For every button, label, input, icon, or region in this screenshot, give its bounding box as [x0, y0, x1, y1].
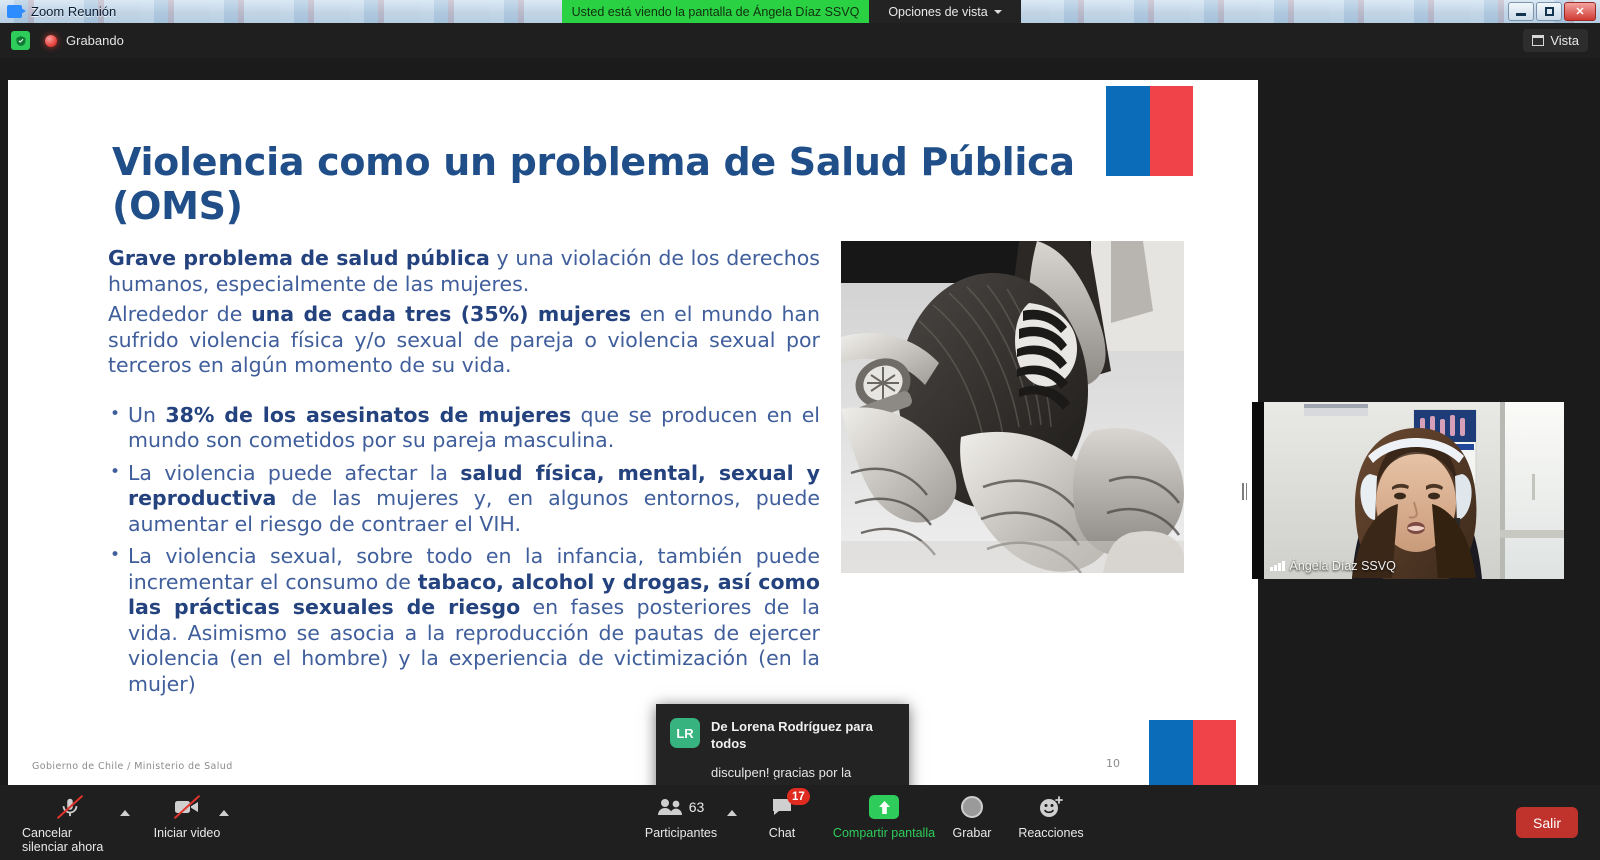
- window-title: Zoom Reunión: [31, 4, 116, 19]
- video-participant-name: Ángela Díaz SSVQ: [1264, 557, 1402, 575]
- meeting-toolbar: Cancelar silenciar ahora Iniciar video 6…: [0, 785, 1600, 860]
- microphone-muted-icon: [59, 794, 81, 820]
- grid-view-icon: [1532, 35, 1544, 46]
- maximize-button[interactable]: [1536, 2, 1562, 21]
- view-options-label: Opciones de vista: [888, 5, 987, 19]
- os-title-bar: Zoom Reunión Usted está viendo la pantal…: [0, 0, 1600, 23]
- chile-flag-logo-bottom: [1149, 720, 1236, 790]
- participants-label: Participantes: [645, 826, 717, 840]
- slide-bullet-item: Un 38% de los asesinatos de mujeres que …: [108, 403, 820, 454]
- smiley-plus-icon: [1039, 794, 1063, 820]
- encryption-shield-icon[interactable]: [11, 31, 30, 50]
- recording-label: Grabando: [66, 33, 124, 48]
- start-video-button[interactable]: Iniciar video: [139, 794, 235, 840]
- slide-body-text: Grave problema de salud pública y una vi…: [108, 246, 820, 704]
- record-label: Grabar: [953, 826, 992, 840]
- share-screen-label: Compartir pantalla: [833, 826, 935, 840]
- video-options-caret-icon[interactable]: [219, 810, 229, 816]
- chat-button[interactable]: 17 Chat: [734, 794, 830, 840]
- recording-indicator-icon: [45, 35, 57, 47]
- slide-bullet-item: La violencia sexual, sobre todo en la in…: [108, 544, 820, 697]
- view-options-dropdown[interactable]: Opciones de vista: [869, 0, 1021, 23]
- reactions-button[interactable]: Reacciones: [1003, 794, 1099, 840]
- share-screen-button[interactable]: Compartir pantalla: [829, 794, 939, 840]
- presentation-slide: Violencia como un problema de Salud Públ…: [8, 80, 1258, 790]
- participants-count: 63: [689, 799, 705, 815]
- chat-bubble-icon: 17: [771, 794, 793, 820]
- reactions-label: Reacciones: [1018, 826, 1083, 840]
- shared-screen-stage: Violencia como un problema de Salud Públ…: [0, 58, 1600, 785]
- minimize-button[interactable]: [1508, 2, 1534, 21]
- video-participant-name-label: Ángela Díaz SSVQ: [1290, 559, 1396, 573]
- slide-page-number: 10: [1106, 757, 1120, 770]
- chat-label: Chat: [769, 826, 795, 840]
- unmute-label: Cancelar silenciar ahora: [22, 826, 118, 854]
- video-feed: [1264, 402, 1564, 579]
- slide-title: Violencia como un problema de Salud Públ…: [112, 140, 1112, 228]
- zoom-top-bar: Grabando Vista: [0, 23, 1600, 58]
- chat-unread-badge: 17: [787, 788, 810, 805]
- slide-bullet-list: Un 38% de los asesinatos de mujeres que …: [108, 403, 820, 698]
- close-button[interactable]: ✕: [1564, 2, 1596, 21]
- chat-toast-header: LR De Lorena Rodríguez para todos: [670, 718, 893, 752]
- record-circle-icon: [961, 794, 983, 820]
- audio-options-caret-icon[interactable]: [120, 810, 130, 816]
- view-layout-button[interactable]: Vista: [1523, 29, 1588, 52]
- participants-button[interactable]: 63 Participantes: [633, 794, 729, 840]
- video-panel-drag-handle[interactable]: [1241, 482, 1248, 501]
- camera-off-icon: [174, 794, 200, 820]
- leave-meeting-button[interactable]: Salir: [1516, 807, 1578, 838]
- slide-bullet-item: La violencia puede afectar la salud físi…: [108, 461, 820, 538]
- slide-paragraph: Grave problema de salud pública y una vi…: [108, 246, 820, 297]
- window-controls: ✕: [1508, 2, 1596, 21]
- slide-footer-text: Gobierno de Chile / Ministerio de Salud: [32, 761, 233, 772]
- zoom-app-icon: [7, 5, 22, 18]
- avatar: LR: [670, 718, 700, 748]
- start-video-label: Iniciar video: [154, 826, 221, 840]
- slide-paragraph: Alrededor de una de cada tres (35%) muje…: [108, 302, 820, 379]
- signal-strength-icon: [1270, 561, 1285, 571]
- chat-sender-label: De Lorena Rodríguez para todos: [711, 718, 893, 752]
- view-layout-label: Vista: [1550, 33, 1579, 48]
- share-screen-icon: [869, 794, 899, 820]
- participants-icon: 63: [658, 794, 705, 820]
- screen-share-banner: Usted está viendo la pantalla de Ángela …: [562, 0, 869, 23]
- video-tile-angela-diaz[interactable]: Ángela Díaz SSVQ: [1252, 402, 1564, 579]
- unmute-button[interactable]: Cancelar silenciar ahora: [22, 794, 118, 854]
- slide-photo: [841, 241, 1184, 573]
- chile-flag-logo-top: [1106, 86, 1193, 176]
- chevron-down-icon: [994, 10, 1002, 14]
- slide-paragraphs: Grave problema de salud pública y una vi…: [108, 246, 820, 379]
